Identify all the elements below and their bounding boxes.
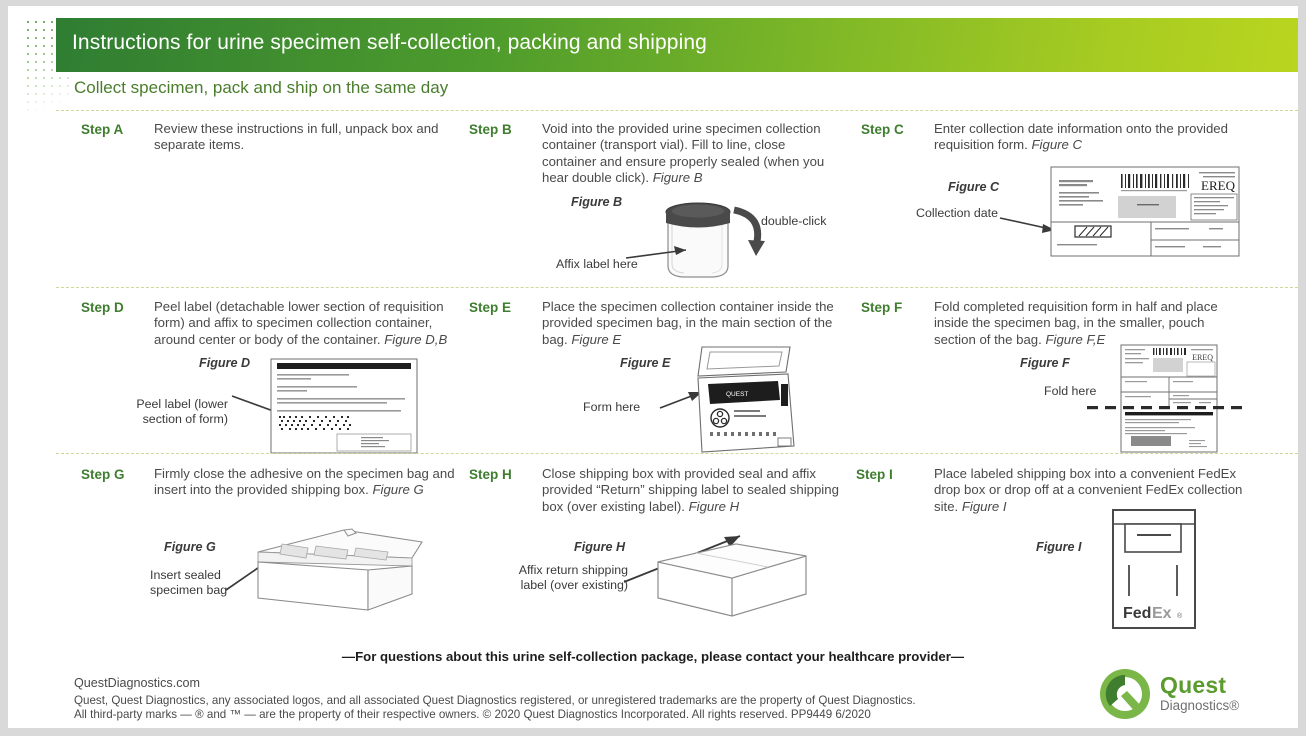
figure-e-callout-form-here: Form here [583, 400, 640, 415]
legal-line-2: All third-party marks — ® and ™ — are th… [74, 708, 974, 722]
step-h-figure-ref: Figure H [689, 499, 740, 514]
figure-b-illustration [638, 194, 818, 284]
step-e-label: Step E [469, 300, 511, 315]
figure-d-callout-peel-label: Peel label (lower section of form) [128, 397, 228, 427]
step-c-figure-ref: Figure C [1032, 137, 1083, 152]
step-f-text: Fold completed requisition form in half … [934, 299, 1242, 348]
website-link[interactable]: QuestDiagnostics.com [74, 676, 200, 690]
figure-c-form-brand: EREQ [1201, 178, 1236, 193]
divider-row-3 [56, 453, 1298, 454]
figure-f-caption: Figure F [1020, 356, 1070, 370]
step-e-text: Place the specimen collection container … [542, 299, 842, 348]
quest-logo-subtitle: Diagnostics® [1160, 698, 1239, 713]
step-f-label: Step F [861, 300, 902, 315]
page-subtitle: Collect specimen, pack and ship on the s… [74, 78, 448, 98]
figure-f-illustration: EREQ [1103, 344, 1248, 454]
step-b-figure-ref: Figure B [653, 170, 703, 185]
step-d-text: Peel label (detachable lower section of … [154, 299, 464, 348]
step-e-figure-ref: Figure E [571, 332, 621, 347]
step-g-text: Firmly close the adhesive on the specime… [154, 466, 464, 499]
step-f-figure-ref: Figure F,E [1045, 332, 1105, 347]
step-i-figure-ref: Figure I [962, 499, 1007, 514]
figure-h-illustration [640, 526, 820, 622]
figure-i-fedex-ex: Ex [1152, 605, 1172, 622]
figure-g-illustration [236, 528, 426, 614]
page-title: Instructions for urine specimen self-col… [72, 31, 707, 55]
figure-i-fedex-mark: ® [1177, 612, 1183, 620]
figure-h-caption: Figure H [574, 540, 625, 554]
step-b-text: Void into the provided urine specimen co… [542, 121, 834, 187]
figure-e-caption: Figure E [620, 356, 670, 370]
step-d-figure-ref: Figure D,B [384, 332, 447, 347]
step-b-label: Step B [469, 122, 512, 137]
step-c-text: Enter collection date information onto t… [934, 121, 1244, 154]
step-g-figure-ref: Figure G [372, 482, 423, 497]
step-a-text: Review these instructions in full, unpac… [154, 121, 454, 154]
figure-g-caption: Figure G [164, 540, 216, 554]
document-page: Instructions for urine specimen self-col… [8, 6, 1298, 728]
step-a-label: Step A [81, 122, 123, 137]
figure-c-caption: Figure C [948, 180, 999, 194]
step-i-text: Place labeled shipping box into a conven… [934, 466, 1249, 515]
step-g-label: Step G [81, 467, 125, 482]
step-c-label: Step C [861, 122, 904, 137]
figure-f-callout-fold-here: Fold here [1044, 384, 1096, 399]
step-h-text: Close shipping box with provided seal an… [542, 466, 847, 515]
figure-h-callout-affix-return-label: Affix return shipping label (over existi… [518, 563, 628, 593]
figure-f-form-brand: EREQ [1192, 353, 1213, 362]
figure-b-caption: Figure B [571, 195, 622, 209]
figure-i-illustration: Fed Ex ® [1111, 508, 1199, 630]
step-i-label: Step I [856, 467, 893, 482]
quest-logo-mark [1096, 666, 1154, 722]
figure-e-illustration: QUEST [668, 346, 798, 454]
figure-i-fedex-fed: Fed [1123, 605, 1151, 622]
figure-e-bag-brand: QUEST [726, 391, 748, 398]
figure-c-illustration: EREQ [1003, 166, 1243, 258]
divider-row-2 [56, 287, 1298, 288]
step-d-label: Step D [81, 300, 124, 315]
contact-provider-note: —For questions about this urine self-col… [8, 649, 1298, 664]
figure-c-callout-collection-date: Collection date [916, 206, 998, 221]
legal-line-1: Quest, Quest Diagnostics, any associated… [74, 694, 974, 708]
step-h-label: Step H [469, 467, 512, 482]
figure-b-callout-affix-label: Affix label here [556, 257, 638, 272]
figure-i-caption: Figure I [1036, 540, 1081, 554]
header-banner: Instructions for urine specimen self-col… [56, 18, 1298, 72]
quest-logo-name: Quest [1160, 672, 1226, 699]
figure-d-illustration [233, 358, 418, 454]
divider-row-1 [56, 110, 1298, 111]
